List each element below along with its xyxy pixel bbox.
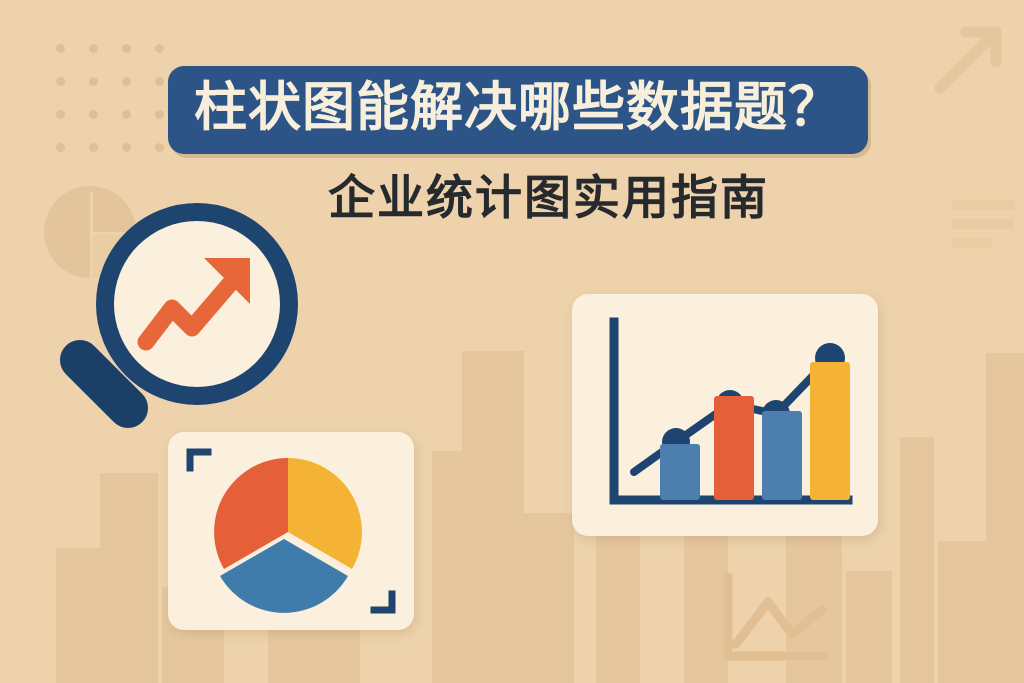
corner-bracket-top-left-icon — [190, 452, 208, 468]
background-bar — [100, 473, 158, 683]
poster-canvas: 柱状图能解决哪些数据题？ 企业统计图实用指南 — [0, 0, 1024, 683]
pie-chart-card[interactable] — [168, 432, 414, 630]
background-bar — [524, 513, 574, 683]
bar-2 — [714, 396, 754, 500]
line-chart-decoration-icon — [718, 572, 830, 666]
background-bar — [462, 351, 524, 683]
page-title: 柱状图能解决哪些数据题？ — [194, 80, 842, 136]
bar-1 — [660, 444, 700, 500]
dot-grid-icon — [56, 44, 166, 154]
list-lines-icon — [952, 200, 1014, 257]
title-banner: 柱状图能解决哪些数据题？ — [168, 66, 868, 154]
magnifier-icon — [44, 196, 314, 446]
background-bar — [846, 571, 892, 683]
bar-3 — [762, 411, 802, 500]
bar-4 — [810, 362, 850, 500]
background-bar — [986, 353, 1024, 683]
arrow-up-right-icon — [932, 22, 1006, 96]
corner-bracket-bottom-right-icon — [374, 594, 392, 610]
page-subtitle: 企业统计图实用指南 — [328, 172, 868, 224]
bar-chart-card[interactable] — [572, 294, 878, 536]
background-bar — [900, 437, 934, 683]
headline-block: 柱状图能解决哪些数据题？ 企业统计图实用指南 — [168, 66, 868, 223]
